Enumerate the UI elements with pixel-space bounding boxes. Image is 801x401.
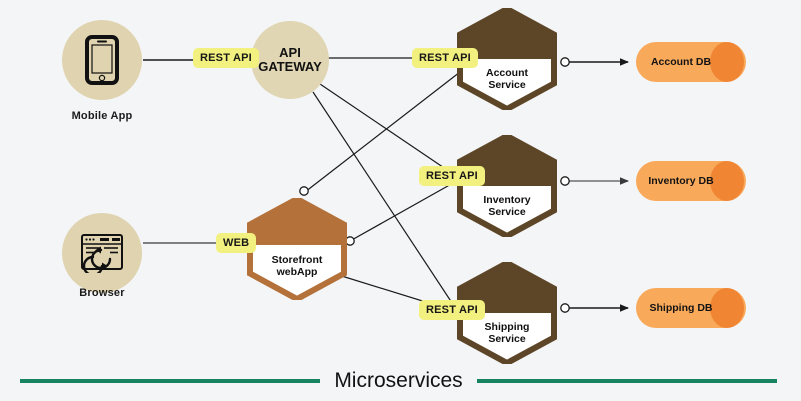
badge-rest-api-account[interactable]: REST API	[412, 48, 478, 68]
node-storefront-webapp[interactable]: Storefront webApp	[247, 198, 347, 300]
port-webapp-right	[346, 237, 354, 245]
node-inventory-db[interactable]: Inventory DB	[635, 160, 747, 202]
diagram-footer: Microservices	[0, 360, 801, 401]
port-account-service-out	[561, 58, 569, 66]
api-gateway-line1: API	[279, 46, 301, 60]
node-account-db[interactable]: Account DB	[635, 41, 747, 83]
badge-rest-api-inventory[interactable]: REST API	[419, 166, 485, 186]
microservices-architecture-diagram: Mobile App Browser API GATEWAY	[0, 0, 801, 401]
node-shipping-db[interactable]: Shipping DB	[635, 287, 747, 329]
api-gateway-line2: GATEWAY	[258, 60, 322, 74]
client-mobile-app-label: Mobile App	[32, 110, 172, 122]
browser-refresh-icon	[80, 233, 124, 273]
node-api-gateway[interactable]: API GATEWAY	[251, 21, 329, 99]
client-mobile-app[interactable]	[62, 20, 142, 100]
smartphone-icon	[85, 35, 119, 85]
hexagon-shape-storefront	[247, 198, 347, 300]
port-shipping-service-out	[561, 304, 569, 312]
port-webapp-top	[300, 187, 308, 195]
badge-rest-api-mobile[interactable]: REST API	[193, 48, 259, 68]
footer-rule-right	[477, 379, 777, 383]
badge-web-browser[interactable]: WEB	[216, 233, 256, 253]
client-browser-label: Browser	[32, 287, 172, 299]
database-cylinder-account	[635, 41, 747, 83]
port-inventory-service-out	[561, 177, 569, 185]
footer-title: Microservices	[334, 369, 462, 393]
database-cylinder-shipping	[635, 287, 747, 329]
hexagon-shape-inventory	[457, 135, 557, 237]
footer-rule-left	[20, 379, 320, 383]
node-inventory-service[interactable]: Inventory Service	[457, 135, 557, 237]
database-cylinder-inventory	[635, 160, 747, 202]
badge-rest-api-shipping[interactable]: REST API	[419, 300, 485, 320]
wire-webapp-to-inventory	[350, 178, 462, 241]
client-browser[interactable]	[62, 213, 142, 293]
